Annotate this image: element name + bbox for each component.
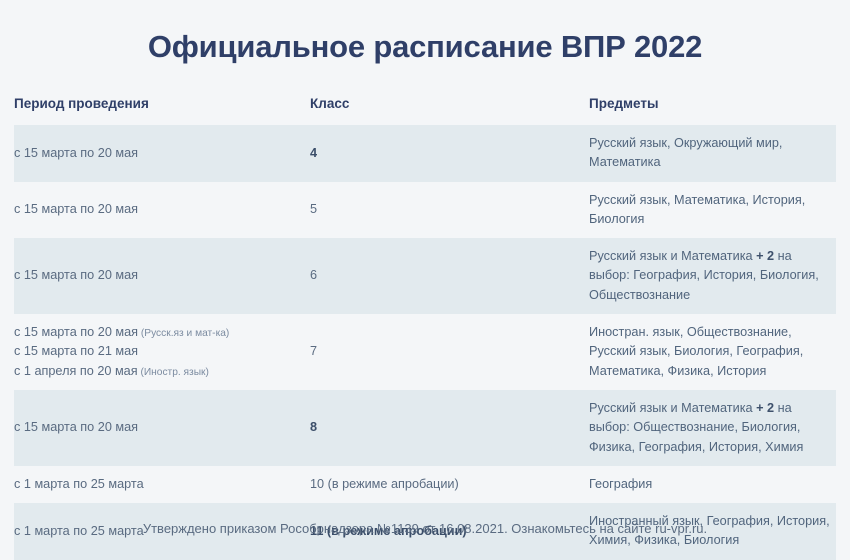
period-line: с 15 марта по 20 мая xyxy=(14,144,297,163)
period-line: с 15 марта по 20 мая xyxy=(14,418,297,437)
table-body: с 15 марта по 20 мая4Русский язык, Окруж… xyxy=(14,125,836,560)
cell-period: с 15 марта по 20 мая xyxy=(14,182,297,239)
table-row: с 15 марта по 20 мая8Русский язык и Мате… xyxy=(14,390,836,466)
column-header-grade: Класс xyxy=(297,96,575,125)
period-line-group: с 1 марта по 25 марта xyxy=(14,475,297,494)
table-row: с 15 марта по 20 мая5Русский язык, Матем… xyxy=(14,182,836,239)
cell-period: с 15 марта по 20 мая (Русск.яз и мат-ка)… xyxy=(14,314,297,390)
cell-grade: 6 xyxy=(297,238,575,314)
subjects-text: Русский язык, Окружающий мир, Математика xyxy=(589,136,782,169)
subjects-text: Иностран. язык, Обществознание, Русский … xyxy=(589,325,803,378)
cell-subjects: Русский язык, Математика, История, Биоло… xyxy=(575,182,836,239)
period-line-group: с 15 марта по 20 мая xyxy=(14,418,297,437)
period-line: с 1 апреля по 20 мая (Иностр. язык) xyxy=(14,362,297,381)
subjects-text: Русский язык и Математика xyxy=(589,401,756,415)
table-row: с 15 марта по 20 мая4Русский язык, Окруж… xyxy=(14,125,836,182)
cell-grade: 4 xyxy=(297,125,575,182)
cell-period: с 15 марта по 20 мая xyxy=(14,125,297,182)
cell-period: с 15 марта по 20 мая xyxy=(14,238,297,314)
column-header-period: Период проведения xyxy=(14,96,297,125)
page-title: Официальное расписание ВПР 2022 xyxy=(0,0,850,65)
period-line-group: с 15 марта по 20 мая xyxy=(14,200,297,219)
footer-note: Утверждено приказом Рособрнадзора №1139 … xyxy=(0,521,850,536)
cell-grade: 5 xyxy=(297,182,575,239)
column-header-subjects: Предметы xyxy=(575,96,836,125)
cell-subjects: Русский язык, Окружающий мир, Математика xyxy=(575,125,836,182)
table-row: с 15 марта по 20 мая (Русск.яз и мат-ка)… xyxy=(14,314,836,390)
table-row: с 15 марта по 20 мая6Русский язык и Мате… xyxy=(14,238,836,314)
period-line-group: с 15 марта по 20 мая (Русск.яз и мат-ка)… xyxy=(14,323,297,381)
subjects-text: Русский язык и Математика xyxy=(589,249,756,263)
period-line-group: с 15 марта по 20 мая xyxy=(14,144,297,163)
table-row: с 1 марта по 25 марта10 (в режиме апроба… xyxy=(14,466,836,503)
schedule-table: Период проведения Класс Предметы с 15 ма… xyxy=(14,96,836,560)
period-line: с 1 марта по 25 марта xyxy=(14,475,297,494)
subjects-emphasis: + 2 xyxy=(756,249,774,263)
cell-grade: 10 (в режиме апробации) xyxy=(297,466,575,503)
table-header-row: Период проведения Класс Предметы xyxy=(14,96,836,125)
subjects-text: Русский язык, Математика, История, Биоло… xyxy=(589,193,805,226)
period-line: с 15 марта по 20 мая (Русск.яз и мат-ка) xyxy=(14,323,297,342)
period-line-note: (Иностр. язык) xyxy=(138,367,209,378)
table-header: Период проведения Класс Предметы xyxy=(14,96,836,125)
cell-period: с 15 марта по 20 мая xyxy=(14,390,297,466)
cell-subjects: Русский язык и Математика + 2 на выбор: … xyxy=(575,390,836,466)
period-line: с 15 марта по 21 мая xyxy=(14,342,297,361)
cell-grade: 8 xyxy=(297,390,575,466)
subjects-emphasis: + 2 xyxy=(756,401,774,415)
period-line-group: с 15 марта по 20 мая xyxy=(14,266,297,285)
period-line: с 15 марта по 20 мая xyxy=(14,266,297,285)
cell-grade: 7 xyxy=(297,314,575,390)
period-line: с 15 марта по 20 мая xyxy=(14,200,297,219)
period-line-note: (Русск.яз и мат-ка) xyxy=(138,328,229,339)
cell-subjects: Русский язык и Математика + 2 на выбор: … xyxy=(575,238,836,314)
cell-subjects: География xyxy=(575,466,836,503)
subjects-text: География xyxy=(589,477,652,491)
poster: Официальное расписание ВПР 2022 Период п… xyxy=(0,0,850,550)
cell-period: с 1 марта по 25 марта xyxy=(14,466,297,503)
cell-subjects: Иностран. язык, Обществознание, Русский … xyxy=(575,314,836,390)
